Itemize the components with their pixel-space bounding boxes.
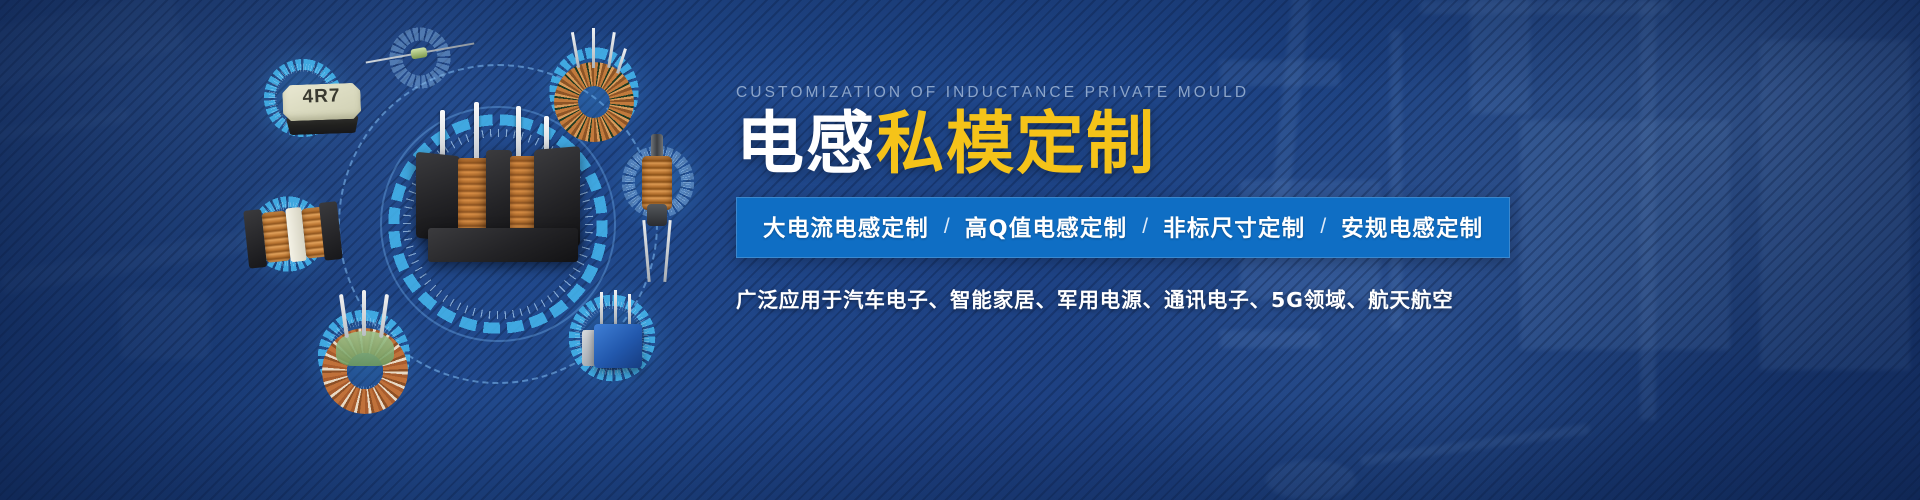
product-node-smd-inductor: 4R7 <box>245 40 361 156</box>
blue-radial-inductor <box>580 290 644 386</box>
page-title: 电感私模定制 <box>736 110 1856 181</box>
feature-separator-0: / <box>929 215 965 239</box>
headline-white-part: 电感 <box>736 105 876 184</box>
promo-banner: 4R7 <box>0 0 1920 500</box>
smd-chip-label: 4R7 <box>282 85 361 110</box>
feature-item-0: 大电流电感定制 <box>763 211 929 243</box>
banner-eyebrow: CUSTOMIZATION OF INDUCTANCE PRIVATE MOUL… <box>736 84 1856 102</box>
product-node-toroid-choke <box>296 288 432 424</box>
smd-power-inductor: 4R7 <box>282 83 362 138</box>
feature-separator-1: / <box>1127 215 1163 239</box>
banner-content: CUSTOMIZATION OF INDUCTANCE PRIVATE MOUL… <box>736 84 1856 313</box>
product-node-rod-inductor <box>604 128 712 236</box>
bobbin-wound-inductor <box>243 201 341 268</box>
feature-item-2: 非标尺寸定制 <box>1163 211 1305 243</box>
feature-separator-2: / <box>1305 215 1341 239</box>
product-node-wire-bead <box>374 12 466 104</box>
product-node-bobbin-inductor <box>232 178 344 290</box>
feature-item-1: 高Q值电感定制 <box>965 211 1128 243</box>
product-node-blue-inductor <box>548 274 676 402</box>
feature-list-bar: 大电流电感定制 / 高Q值电感定制 / 非标尺寸定制 / 安规电感定制 <box>736 197 1510 258</box>
axial-rod-inductor <box>634 134 680 284</box>
headline-gold-part: 私模定制 <box>876 105 1156 184</box>
toroidal-common-mode-choke <box>322 328 408 414</box>
feature-item-3: 安规电感定制 <box>1341 211 1483 243</box>
banner-tagline: 广泛应用于汽车电子、智能家居、军用电源、通讯电子、5G领域、航天航空 <box>736 283 1856 313</box>
emi-filter-choke-cluster <box>408 110 588 265</box>
